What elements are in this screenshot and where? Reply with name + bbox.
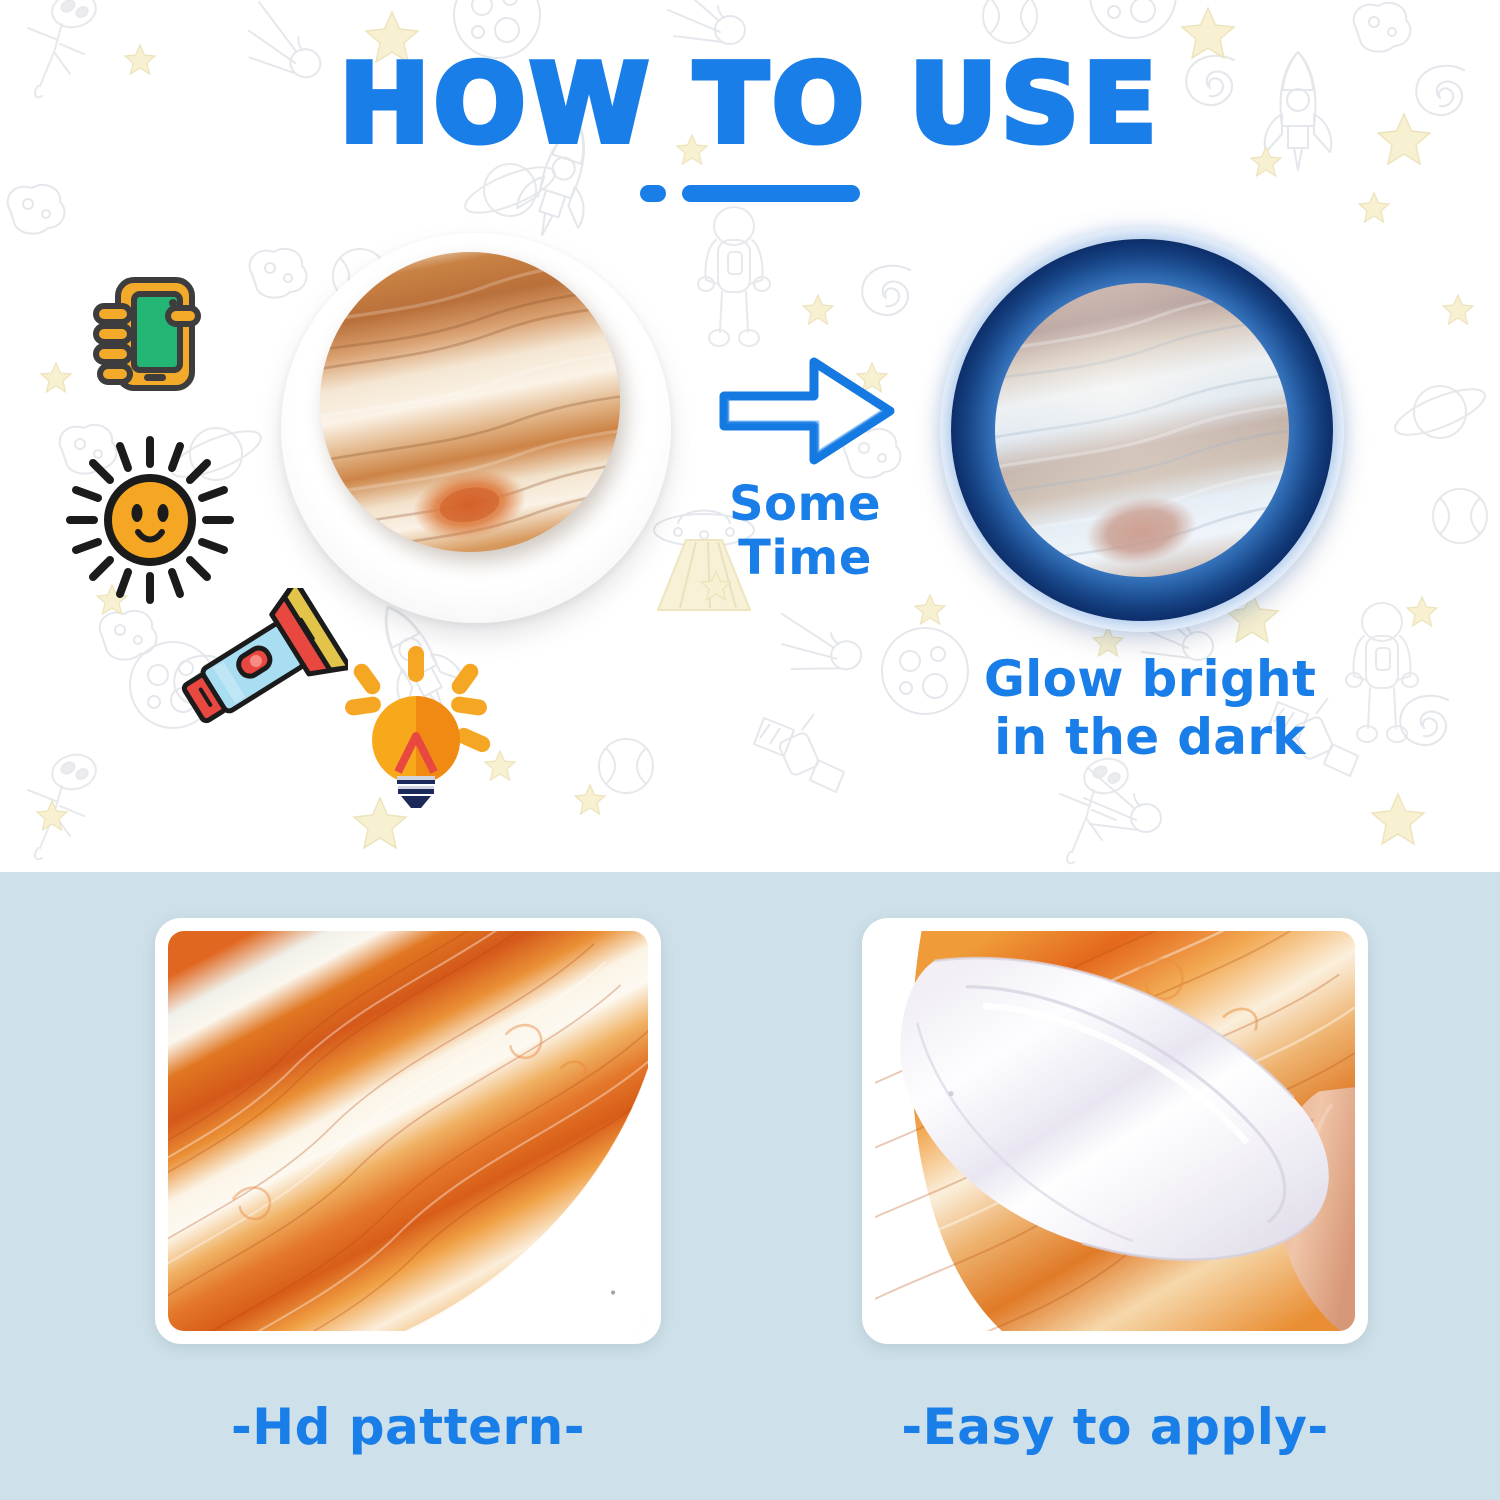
light-bulb-icon [325,640,505,815]
jupiter-sticker-glowing [995,283,1289,577]
arrow-right-icon [718,352,898,475]
caption-hd-pattern: -Hd pattern- [155,1398,661,1456]
some-time-line1: Some [690,478,920,532]
flashlight-icon [168,588,348,753]
glow-caption-line1: Glow bright [960,650,1340,708]
sticker-backing-peel [875,931,1355,1331]
caption-easy-apply: -Easy to apply- [862,1398,1368,1456]
some-time-label: Some Time [690,478,920,586]
feature-card-easy-apply [862,918,1368,1344]
title-underline-icon [0,182,1500,204]
phone-flashlight-icon [82,270,210,403]
feature-card-hd-pattern [155,918,661,1344]
glow-caption-label: Glow bright in the dark [960,650,1340,766]
underline-dot [640,185,666,202]
page-title: HOW TO USE [0,48,1500,161]
underline-bar [682,185,860,202]
some-time-line2: Time [690,532,920,586]
how-to-use-infographic: HOW TO USE [0,0,1500,1500]
jupiter-sticker-daylight [320,252,620,552]
glow-caption-line2: in the dark [960,708,1340,766]
top-section: HOW TO USE [0,0,1500,872]
jupiter-surface-closeup [168,931,648,1331]
